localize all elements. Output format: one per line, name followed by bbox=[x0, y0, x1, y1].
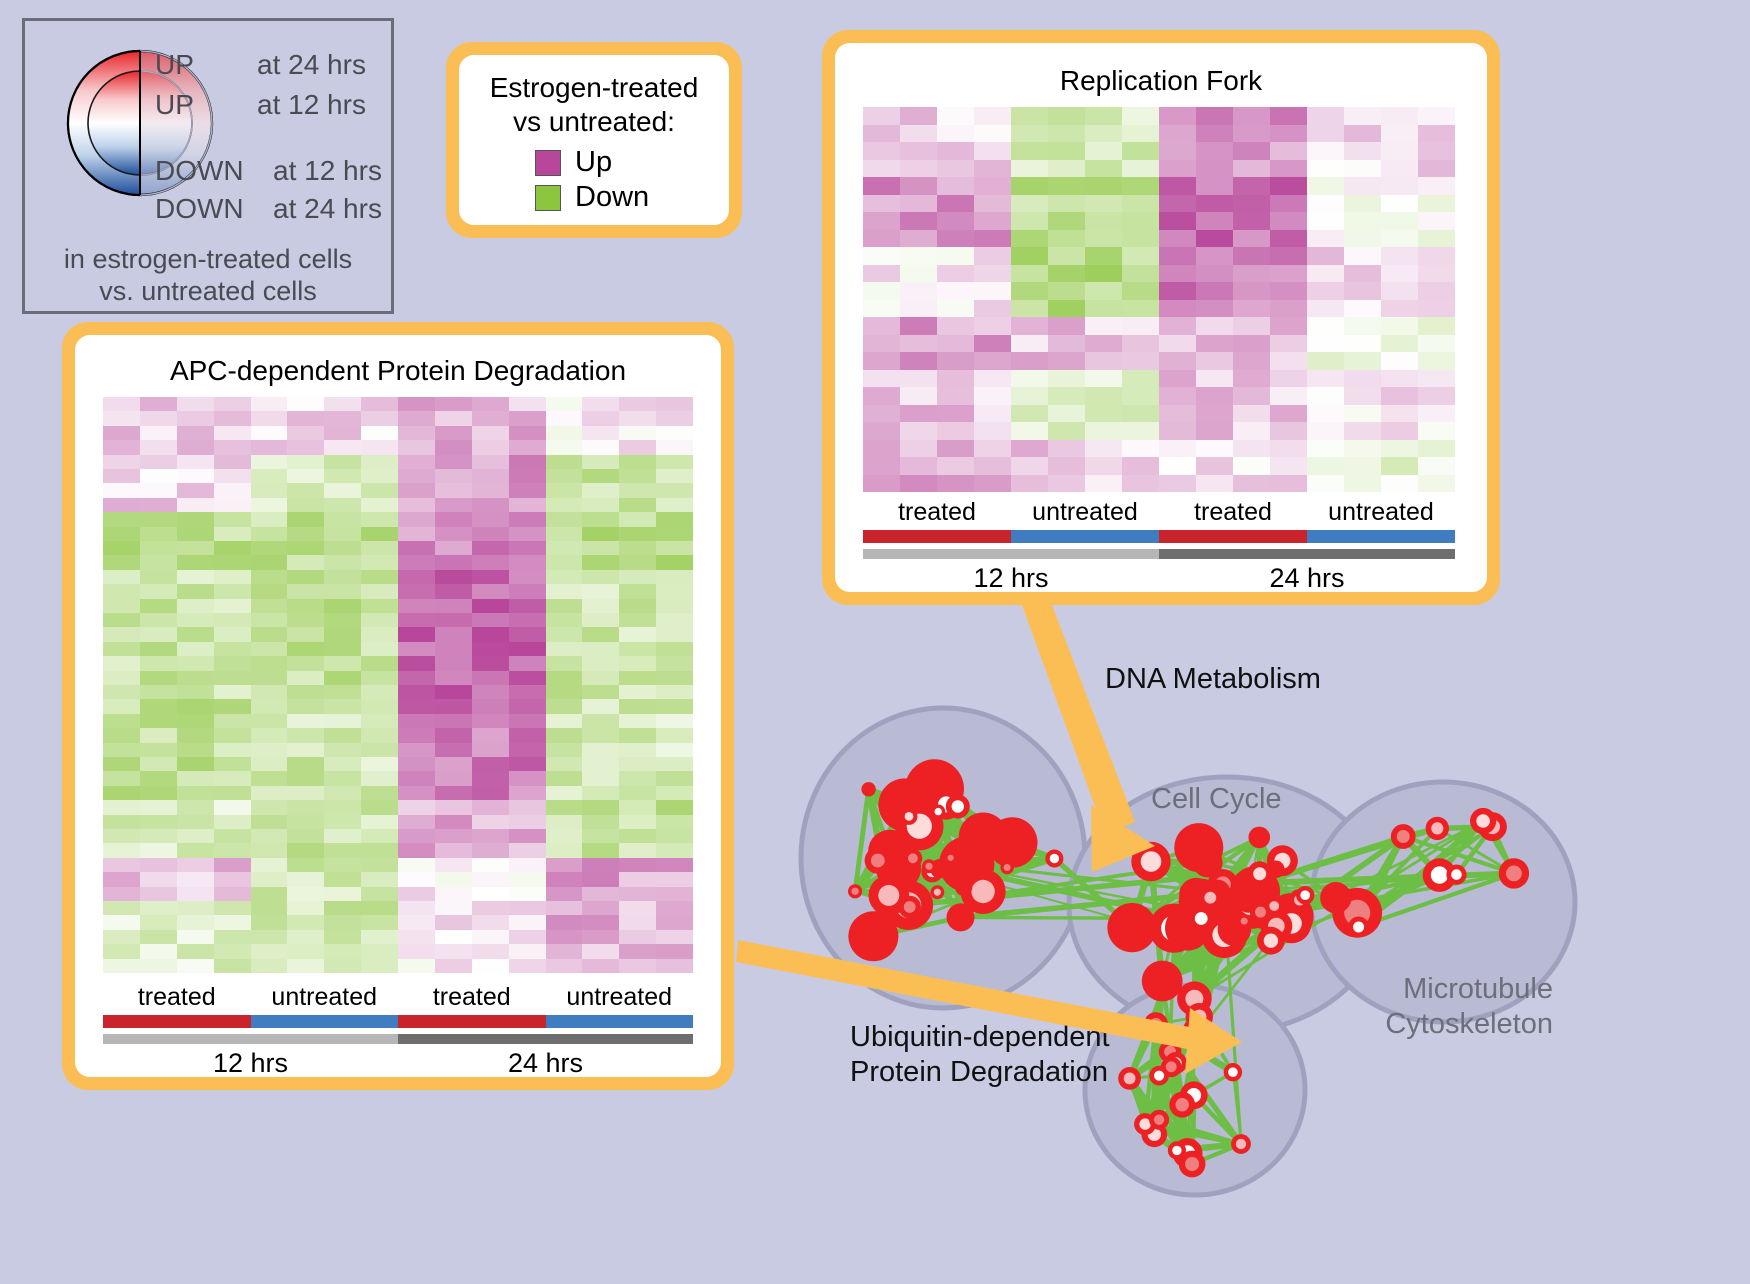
heatmap-cell bbox=[1233, 387, 1270, 405]
heatmap-cell bbox=[546, 671, 583, 685]
annotation-apc: treated untreated treated untreated 12 h bbox=[103, 983, 693, 1079]
heatmap-cell bbox=[324, 743, 361, 757]
heatmap-cell bbox=[361, 498, 398, 512]
network-node[interactable] bbox=[1169, 1092, 1195, 1118]
network-node[interactable] bbox=[945, 852, 957, 864]
heatmap-cell bbox=[863, 335, 900, 353]
heatmap-cell bbox=[1011, 160, 1048, 178]
heatmap-cell bbox=[619, 714, 656, 728]
heatmap-cell bbox=[214, 613, 251, 627]
network-node[interactable] bbox=[1348, 917, 1369, 938]
heatmap-cell bbox=[1418, 177, 1455, 195]
heatmap-cell bbox=[1233, 265, 1270, 283]
network-node[interactable] bbox=[1499, 858, 1529, 888]
heatmap-cell bbox=[287, 411, 324, 425]
heatmap-cell bbox=[103, 714, 140, 728]
network-node[interactable] bbox=[1391, 824, 1416, 849]
up-swatch-icon bbox=[535, 150, 561, 176]
heatmap-cell bbox=[509, 584, 546, 598]
heatmap-cell bbox=[472, 627, 509, 641]
heatmap-cell bbox=[251, 771, 288, 785]
heatmap-cell bbox=[103, 944, 140, 958]
wheel-footer-line2: vs. untreated cells bbox=[25, 275, 391, 309]
heatmap-cell bbox=[900, 317, 937, 335]
heatmap-cell bbox=[214, 570, 251, 584]
heatmap-cell bbox=[177, 512, 214, 526]
heatmap-cell bbox=[1344, 440, 1381, 458]
heatmap-cell bbox=[656, 627, 693, 641]
network-node[interactable] bbox=[1231, 1134, 1251, 1154]
network-node[interactable] bbox=[1189, 906, 1214, 931]
heatmap-cell bbox=[398, 541, 435, 555]
heatmap-cell bbox=[177, 642, 214, 656]
heatmap-cell bbox=[140, 627, 177, 641]
heatmap-cell bbox=[472, 959, 509, 973]
heatmap-cell bbox=[1344, 370, 1381, 388]
heatmap-cell bbox=[582, 843, 619, 857]
network-node[interactable] bbox=[1249, 827, 1271, 849]
heatmap-cell bbox=[251, 555, 288, 569]
network-node[interactable] bbox=[955, 879, 972, 896]
network-node[interactable] bbox=[931, 805, 945, 819]
heatmap-cell bbox=[619, 541, 656, 555]
network-node[interactable] bbox=[1183, 1020, 1205, 1042]
heatmap-cell bbox=[546, 498, 583, 512]
heatmap-cell bbox=[324, 714, 361, 728]
heatmap-cell bbox=[324, 815, 361, 829]
heatmap-cell bbox=[214, 599, 251, 613]
heatmap-cell bbox=[582, 627, 619, 641]
heatmap-cell bbox=[546, 714, 583, 728]
heatmap-cell bbox=[1196, 387, 1233, 405]
heatmap-cell bbox=[900, 387, 937, 405]
heatmap-cell bbox=[1048, 300, 1085, 318]
heatmap-cell bbox=[509, 815, 546, 829]
heatmap-cell bbox=[900, 142, 937, 160]
heatmap-cell bbox=[619, 815, 656, 829]
heatmap-cell bbox=[287, 527, 324, 541]
network-graph bbox=[795, 620, 1750, 1279]
network-node[interactable] bbox=[865, 847, 891, 873]
network-node[interactable] bbox=[1149, 1110, 1169, 1130]
network-node[interactable] bbox=[1168, 1141, 1186, 1159]
heatmap-cell bbox=[509, 930, 546, 944]
network-node[interactable] bbox=[1193, 847, 1223, 877]
heatmap-cell bbox=[398, 786, 435, 800]
heatmap-cell bbox=[656, 829, 693, 843]
heatmap-cell bbox=[435, 858, 472, 872]
heatmap-cell bbox=[1048, 160, 1085, 178]
heatmap-cell bbox=[1085, 142, 1122, 160]
heatmap-cell bbox=[472, 483, 509, 497]
heatmap-cell bbox=[974, 300, 1011, 318]
network-node[interactable] bbox=[922, 859, 936, 873]
heatmap-cell bbox=[103, 570, 140, 584]
heatmap-cell bbox=[361, 887, 398, 901]
heatmap-cell bbox=[214, 872, 251, 886]
heatmap-cell bbox=[1270, 212, 1307, 230]
heatmap-cell bbox=[1381, 107, 1418, 125]
heatmap-cell bbox=[103, 555, 140, 569]
network-node[interactable] bbox=[904, 849, 923, 868]
heatmap-cell bbox=[1381, 387, 1418, 405]
heatmap-cell bbox=[361, 570, 398, 584]
network-node[interactable] bbox=[931, 885, 945, 899]
heatmap-cell bbox=[214, 887, 251, 901]
network-node[interactable] bbox=[861, 782, 875, 796]
heatmap-cell bbox=[287, 685, 324, 699]
heatmap-cell bbox=[472, 771, 509, 785]
heatmap-cell bbox=[398, 887, 435, 901]
heatmap-cell bbox=[435, 944, 472, 958]
heatmap-cell bbox=[324, 671, 361, 685]
heatmap-cell bbox=[863, 317, 900, 335]
network-node[interactable] bbox=[1296, 886, 1314, 904]
heatmap-cell bbox=[1233, 125, 1270, 143]
heatmap-cell bbox=[1085, 282, 1122, 300]
heatmap-cell bbox=[140, 584, 177, 598]
heatmap-cell bbox=[1381, 265, 1418, 283]
heatmap-cell bbox=[863, 352, 900, 370]
heatmap-cell bbox=[546, 815, 583, 829]
network-node[interactable] bbox=[1045, 850, 1063, 868]
heatmap-cell bbox=[1048, 282, 1085, 300]
heatmap-cell bbox=[582, 771, 619, 785]
heatmap-cell bbox=[398, 555, 435, 569]
heatmap-cell bbox=[656, 613, 693, 627]
heatmap-cell bbox=[1270, 422, 1307, 440]
heatmap-cell bbox=[863, 457, 900, 475]
heatmap-cell bbox=[324, 527, 361, 541]
heatmap-cell bbox=[398, 613, 435, 627]
heatmap-cell bbox=[435, 455, 472, 469]
heatmap-cell bbox=[435, 800, 472, 814]
heatmap-cell bbox=[214, 959, 251, 973]
heatmap-cell bbox=[1159, 335, 1196, 353]
heatmap-cell bbox=[140, 599, 177, 613]
heatmap-cell bbox=[656, 671, 693, 685]
heatmap-cell bbox=[900, 177, 937, 195]
heatmap-cell bbox=[1196, 317, 1233, 335]
heatmap-cell bbox=[1270, 475, 1307, 493]
bar-time-12 bbox=[863, 549, 1159, 559]
heatmap-cell bbox=[900, 247, 937, 265]
heatmap-cell bbox=[1196, 212, 1233, 230]
heatmap-cell bbox=[1122, 475, 1159, 493]
heatmap-cell bbox=[546, 440, 583, 454]
heatmap-cell bbox=[214, 685, 251, 699]
heatmap-cell bbox=[619, 527, 656, 541]
heatmap-cell bbox=[1011, 457, 1048, 475]
heatmap-cell bbox=[509, 469, 546, 483]
heatmap-cell bbox=[1048, 457, 1085, 475]
heatmap-cell bbox=[619, 872, 656, 886]
heatmap-cell bbox=[619, 426, 656, 440]
heatmap-cell bbox=[251, 815, 288, 829]
heatmap-cell bbox=[1344, 247, 1381, 265]
network-node[interactable] bbox=[946, 795, 970, 819]
heatmap-cell bbox=[214, 771, 251, 785]
network-node[interactable] bbox=[848, 884, 862, 898]
network-node[interactable] bbox=[1320, 882, 1351, 913]
heatmap-cell bbox=[214, 858, 251, 872]
network-node[interactable] bbox=[1224, 1063, 1242, 1081]
heatmap-cell bbox=[398, 858, 435, 872]
heatmap-cell bbox=[863, 177, 900, 195]
heatmap-cell bbox=[509, 786, 546, 800]
heatmap-cell bbox=[656, 714, 693, 728]
heatmap-cell bbox=[1307, 405, 1344, 423]
heatmap-cell bbox=[1196, 160, 1233, 178]
heatmap-cell bbox=[1048, 352, 1085, 370]
heatmap-cell bbox=[472, 915, 509, 929]
network-node[interactable] bbox=[1142, 961, 1183, 1002]
heatmap-cell bbox=[324, 584, 361, 598]
heatmap-cell bbox=[103, 642, 140, 656]
treatment-color-bar bbox=[103, 1015, 693, 1028]
heatmap-cell bbox=[1344, 212, 1381, 230]
bar-untreated-24 bbox=[546, 1015, 694, 1028]
heatmap-cell bbox=[251, 872, 288, 886]
heatmap-cell bbox=[324, 570, 361, 584]
heatmap-cell bbox=[937, 422, 974, 440]
heatmap-cell bbox=[103, 872, 140, 886]
heatmap-cell bbox=[324, 959, 361, 973]
heatmap-cell bbox=[361, 800, 398, 814]
network-node[interactable] bbox=[1446, 865, 1466, 885]
heatmap-cell bbox=[582, 656, 619, 670]
heatmap-cell bbox=[361, 743, 398, 757]
heatmap-cell bbox=[398, 714, 435, 728]
heatmap-cell bbox=[472, 699, 509, 713]
heatmap-cell bbox=[1381, 160, 1418, 178]
network-node[interactable] bbox=[1144, 1012, 1168, 1036]
heatmap-cell bbox=[863, 387, 900, 405]
heatmap-cell bbox=[287, 930, 324, 944]
heatmap-cell bbox=[656, 656, 693, 670]
group-label-untreated-24: untreated bbox=[1307, 498, 1455, 527]
heatmap-cell bbox=[472, 800, 509, 814]
heatmap-cell bbox=[1159, 405, 1196, 423]
heatmap-cell bbox=[177, 757, 214, 771]
heatmap-cell bbox=[324, 541, 361, 555]
heatmap-cell bbox=[656, 901, 693, 915]
heatmap-cell bbox=[582, 901, 619, 915]
heatmap-cell bbox=[214, 843, 251, 857]
heatmap-cell bbox=[177, 498, 214, 512]
heatmap-cell bbox=[287, 642, 324, 656]
heatmap-cell bbox=[140, 872, 177, 886]
heatmap-cell bbox=[509, 843, 546, 857]
heatmap-cell bbox=[287, 843, 324, 857]
network-node[interactable] bbox=[1238, 914, 1251, 927]
heatmap-cell bbox=[361, 671, 398, 685]
network-node[interactable] bbox=[1265, 897, 1284, 916]
heatmap-cell bbox=[435, 527, 472, 541]
bar-time-24 bbox=[398, 1034, 693, 1044]
heatmap-cell bbox=[361, 541, 398, 555]
heatmap-cell bbox=[287, 498, 324, 512]
heatmap-cell bbox=[1307, 370, 1344, 388]
heatmap-cell bbox=[1418, 457, 1455, 475]
heatmap-cell bbox=[582, 915, 619, 929]
heatmap-cell bbox=[1381, 142, 1418, 160]
heatmap-cell bbox=[509, 771, 546, 785]
wheel-time-up-12: at 12 hrs bbox=[257, 89, 366, 121]
heatmap-cell bbox=[1418, 317, 1455, 335]
heatmap-cell bbox=[177, 397, 214, 411]
heatmap-cell bbox=[251, 627, 288, 641]
heatmap-cell bbox=[361, 771, 398, 785]
heatmap-cell bbox=[546, 555, 583, 569]
heatmap-cell bbox=[214, 483, 251, 497]
heatmap-cell bbox=[1159, 142, 1196, 160]
heatmap-cell bbox=[937, 177, 974, 195]
heatmap-cell bbox=[1159, 352, 1196, 370]
heatmap-cell bbox=[103, 771, 140, 785]
heatmap-cell bbox=[863, 405, 900, 423]
heatmap-cell bbox=[1344, 457, 1381, 475]
heatmap-cell bbox=[435, 959, 472, 973]
heatmap-cell bbox=[509, 498, 546, 512]
heatmap-cell bbox=[1381, 177, 1418, 195]
heatmap-cell bbox=[1418, 300, 1455, 318]
heatmap-cell bbox=[177, 541, 214, 555]
figure-canvas: UP at 24 hrs UP at 12 hrs DOWN at 12 hrs… bbox=[0, 0, 1750, 1279]
heatmap-cell bbox=[324, 627, 361, 641]
heatmap-cell bbox=[287, 858, 324, 872]
heatmap-cell bbox=[398, 728, 435, 742]
heatmap-cell bbox=[582, 944, 619, 958]
heatmap-cell bbox=[619, 411, 656, 425]
heatmap-cell bbox=[1344, 160, 1381, 178]
heatmap-cell bbox=[1085, 230, 1122, 248]
heatmap-cell bbox=[287, 728, 324, 742]
network-node[interactable] bbox=[1000, 861, 1013, 874]
network-node[interactable] bbox=[959, 813, 1008, 862]
heatmap-cell bbox=[1381, 212, 1418, 230]
heatmap-cell bbox=[214, 699, 251, 713]
heatmap-cell bbox=[1307, 142, 1344, 160]
heatmap-cell bbox=[1307, 352, 1344, 370]
key-item-down: Down bbox=[535, 181, 729, 214]
heatmap-cell bbox=[900, 422, 937, 440]
heatmap-cell bbox=[1048, 230, 1085, 248]
heatmap-cell bbox=[509, 656, 546, 670]
heatmap-cell bbox=[1196, 422, 1233, 440]
network-node[interactable] bbox=[1114, 903, 1154, 943]
panel-title-apc: APC-dependent Protein Degradation bbox=[75, 355, 721, 387]
heatmap-cell bbox=[398, 656, 435, 670]
network-node[interactable] bbox=[1149, 1066, 1169, 1086]
heatmap-cell bbox=[1159, 317, 1196, 335]
heatmap-cell bbox=[1085, 300, 1122, 318]
annotation-replication-fork: treated untreated treated untreated 12 h bbox=[863, 498, 1455, 594]
network-node[interactable] bbox=[901, 808, 918, 825]
heatmap-cell bbox=[177, 887, 214, 901]
heatmap-cell bbox=[1418, 352, 1455, 370]
network-node[interactable] bbox=[947, 903, 975, 931]
heatmap-cell bbox=[1233, 282, 1270, 300]
heatmap-cell bbox=[251, 599, 288, 613]
heatmap-cell bbox=[324, 901, 361, 915]
heatmap-cell bbox=[435, 627, 472, 641]
heatmap-cell bbox=[1011, 475, 1048, 493]
heatmap-cell bbox=[974, 230, 1011, 248]
heatmap-cell bbox=[937, 142, 974, 160]
heatmap-cell bbox=[103, 786, 140, 800]
heatmap-cell bbox=[324, 656, 361, 670]
network-node[interactable] bbox=[1131, 842, 1170, 881]
heatmap-cell bbox=[140, 858, 177, 872]
heatmap-cell bbox=[619, 613, 656, 627]
heatmap-cell bbox=[1233, 247, 1270, 265]
heatmap-cell bbox=[900, 352, 937, 370]
heatmap-cell bbox=[546, 411, 583, 425]
network-node[interactable] bbox=[1257, 927, 1285, 955]
heatmap-cell bbox=[214, 426, 251, 440]
network-node[interactable] bbox=[1470, 808, 1496, 834]
heatmap-cell bbox=[214, 440, 251, 454]
heatmap-cell bbox=[509, 397, 546, 411]
heatmap-cell bbox=[1344, 265, 1381, 283]
heatmap-cell bbox=[1159, 282, 1196, 300]
heatmap-cell bbox=[1270, 125, 1307, 143]
heatmap-cell bbox=[582, 570, 619, 584]
heatmap-cell bbox=[619, 685, 656, 699]
heatmap-cell bbox=[1233, 212, 1270, 230]
network-node[interactable] bbox=[1118, 1067, 1141, 1090]
heatmap-cell bbox=[974, 422, 1011, 440]
heatmap-cell bbox=[324, 685, 361, 699]
network-node[interactable] bbox=[898, 896, 921, 919]
heatmap-cell bbox=[435, 483, 472, 497]
heatmap-cell bbox=[287, 829, 324, 843]
network-node[interactable] bbox=[1267, 861, 1285, 879]
heatmap-cell bbox=[1381, 282, 1418, 300]
time-color-bar bbox=[863, 549, 1455, 559]
heatmap-cell bbox=[1270, 352, 1307, 370]
heatmap-cell bbox=[1122, 195, 1159, 213]
heatmap-cell bbox=[1344, 142, 1381, 160]
heatmap-cell bbox=[937, 317, 974, 335]
heatmap-cell bbox=[1307, 195, 1344, 213]
panel-title-replication-fork: Replication Fork bbox=[835, 65, 1487, 97]
heatmap-cell bbox=[1307, 107, 1344, 125]
heatmap-cell bbox=[472, 887, 509, 901]
heatmap-cell bbox=[177, 786, 214, 800]
heatmap-cell bbox=[863, 160, 900, 178]
heatmap-cell bbox=[937, 160, 974, 178]
heatmap-cell bbox=[1085, 387, 1122, 405]
heatmap-cell bbox=[214, 411, 251, 425]
cluster-label-dna-metabolism: DNA Metabolism bbox=[1105, 662, 1321, 697]
heatmap-cell bbox=[1344, 177, 1381, 195]
heatmap-cell bbox=[472, 426, 509, 440]
heatmap-cell bbox=[546, 469, 583, 483]
heatmap-cell bbox=[974, 195, 1011, 213]
colorwheel-legend: UP at 24 hrs UP at 12 hrs DOWN at 12 hrs… bbox=[22, 18, 394, 314]
heatmap-cell bbox=[509, 426, 546, 440]
heatmap-cell bbox=[1085, 247, 1122, 265]
heatmap-cell bbox=[863, 142, 900, 160]
network-node[interactable] bbox=[1199, 886, 1222, 909]
network-node[interactable] bbox=[1426, 817, 1449, 840]
heatmap-cell bbox=[140, 786, 177, 800]
heatmap-cell bbox=[1196, 457, 1233, 475]
heatmap-cell bbox=[1196, 370, 1233, 388]
heatmap-cell bbox=[582, 671, 619, 685]
